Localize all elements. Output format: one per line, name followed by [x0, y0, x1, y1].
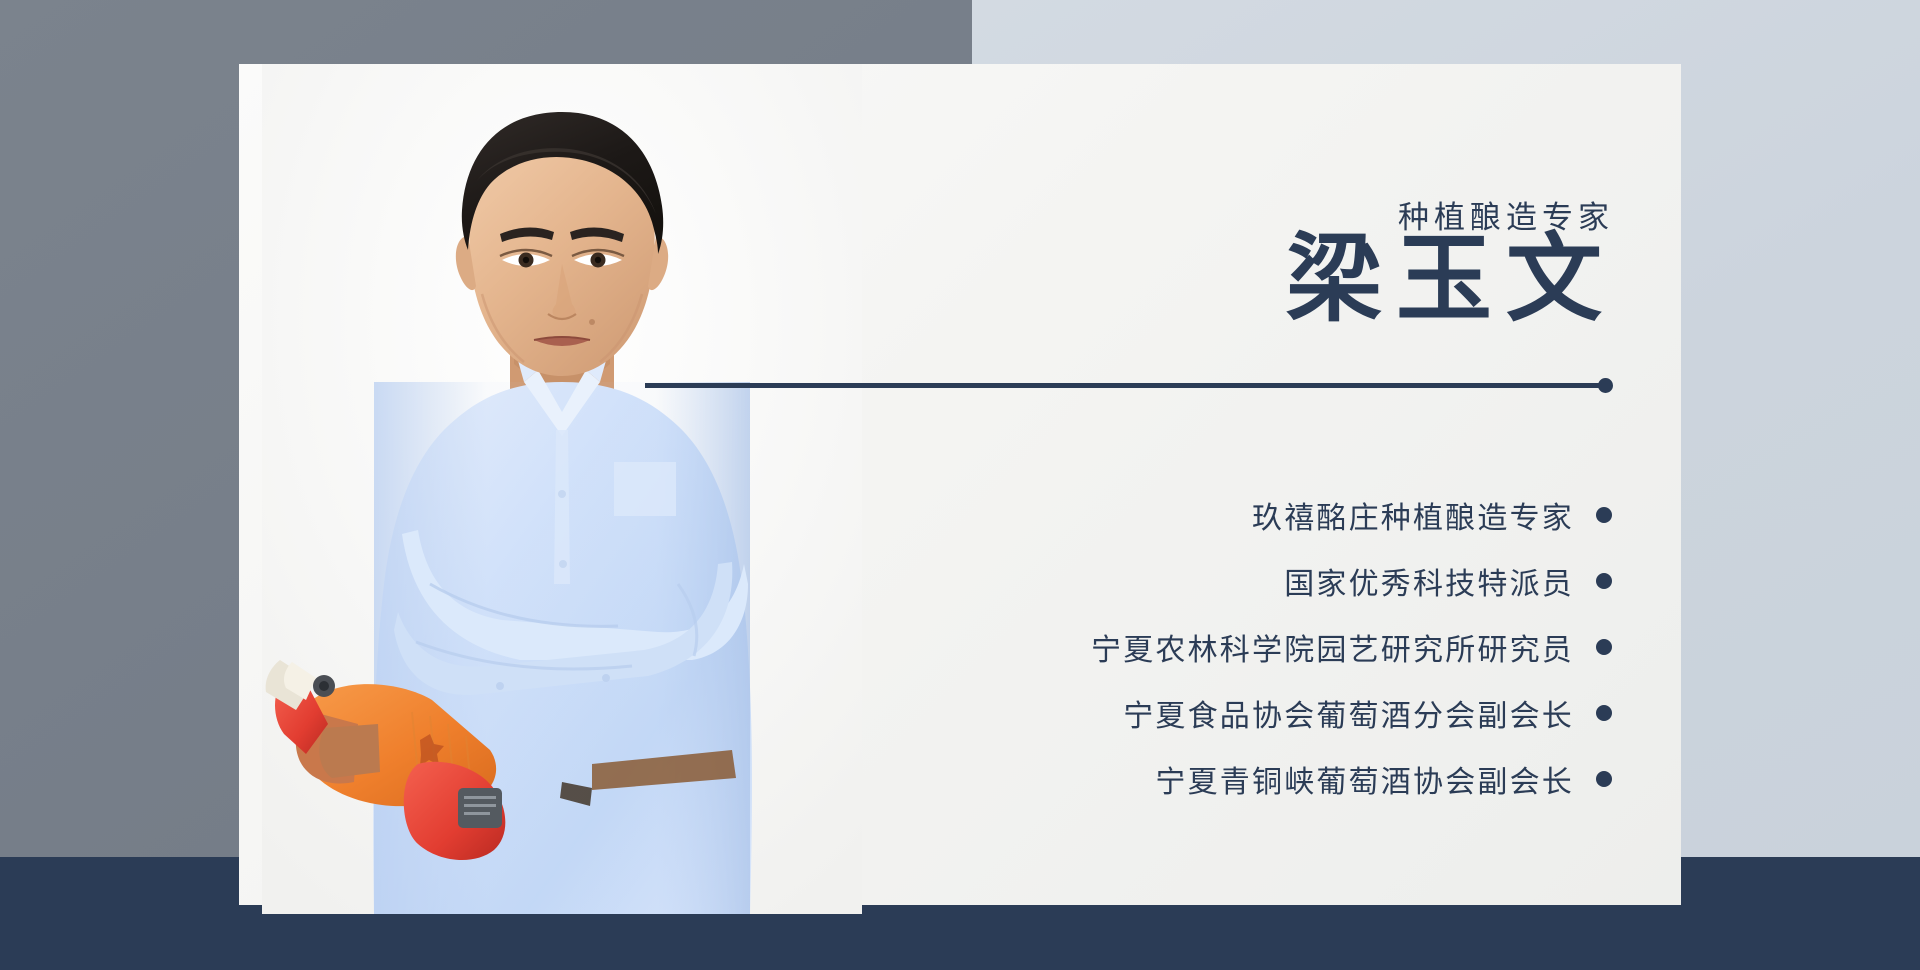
credential-text: 宁夏青铜峡葡萄酒协会副会长 — [1155, 757, 1574, 801]
credential-text: 宁夏食品协会葡萄酒分会副会长 — [1123, 691, 1574, 735]
credential-text: 国家优秀科技特派员 — [1284, 559, 1574, 603]
page-title: 梁玉文 — [1286, 230, 1616, 331]
bullet-icon — [1596, 771, 1612, 787]
list-item: 国家优秀科技特派员 — [900, 548, 1612, 614]
background-navy-right — [1681, 857, 1920, 970]
background-bottom-edge — [0, 966, 1920, 970]
list-item: 玖禧酩庄种植酿造专家 — [900, 482, 1612, 548]
bullet-icon — [1596, 705, 1612, 721]
list-item: 宁夏农林科学院园艺研究所研究员 — [900, 614, 1612, 680]
bullet-icon — [1596, 507, 1612, 523]
list-item: 宁夏青铜峡葡萄酒协会副会长 — [900, 746, 1612, 812]
credential-list: 玖禧酩庄种植酿造专家 国家优秀科技特派员 宁夏农林科学院园艺研究所研究员 宁夏食… — [900, 482, 1612, 812]
credential-text: 玖禧酩庄种植酿造专家 — [1252, 493, 1574, 537]
divider-end-dot — [1598, 378, 1613, 393]
bullet-icon — [1596, 573, 1612, 589]
bullet-icon — [1596, 639, 1612, 655]
credential-text: 宁夏农林科学院园艺研究所研究员 — [1091, 625, 1574, 669]
divider-line — [645, 383, 1608, 388]
list-item: 宁夏食品协会葡萄酒分会副会长 — [900, 680, 1612, 746]
profile-banner: 种植酿造专家 梁玉文 玖禧酩庄种植酿造专家 国家优秀科技特派员 宁夏农林科学院园… — [0, 0, 1920, 970]
